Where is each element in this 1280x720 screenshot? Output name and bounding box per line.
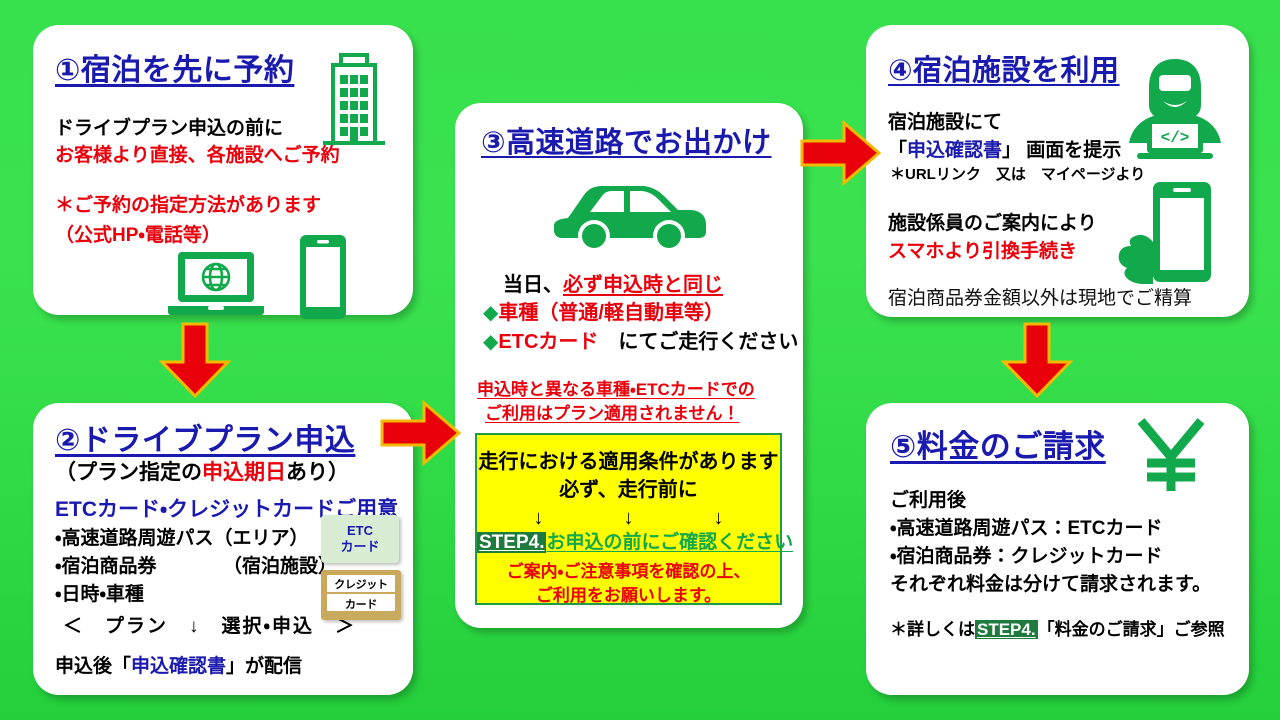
card2-bullet-3: ・日時・車種 — [55, 579, 144, 606]
smartphone-icon — [298, 233, 348, 321]
card4-title: ④宿泊施設を利用 — [888, 47, 1120, 89]
infographic-canvas: ①宿泊を先に予約 ドライブプラン申込の前に お客様より直接、各施設へご予約 ＊ご… — [0, 0, 1280, 720]
notice-line-2: 必ず、走行前に — [477, 473, 780, 502]
card2-subtitle-pre: （プラン指定の — [55, 461, 202, 484]
card-step-1: ①宿泊を先に予約 ドライブプラン申込の前に お客様より直接、各施設へご予約 ＊ご… — [33, 25, 413, 315]
hand-smartphone-icon — [1109, 180, 1229, 288]
diamond-marker-icon: ◆ — [483, 302, 498, 324]
card4-line2-highlight: 申込確認書 — [907, 140, 1002, 161]
card4-line-4: 施設係員のご案内により — [888, 208, 1097, 235]
etc-card-label-line2: カード — [340, 539, 379, 555]
card5-line-3: ・宿泊商品券：クレジットカード — [890, 541, 1162, 568]
card3-notice-box: 走行における適用条件があります 必ず、走行前に ↓ ↓ ↓ STEP4.お申込の… — [475, 433, 782, 605]
card2-footer: 申込後「申込確認書」が配信 — [55, 651, 302, 678]
notice-line-5: ご利用をお願いします。 — [477, 581, 780, 606]
card1-line-4: （公式HP・電話等） — [55, 220, 221, 247]
card4-line2-pre: 「 — [888, 140, 907, 161]
etc-card-graphic: ETC カード — [321, 515, 399, 563]
card2-footer-post: 」が配信 — [226, 656, 302, 677]
card-step-5: ⑤料金のご請求 ご利用後 ・高速道路周遊パス：ETCカード ・宿泊商品券：クレジ… — [866, 403, 1249, 695]
card5-line-4: それぞれ料金は分けて請求されます。 — [890, 569, 1211, 596]
card3-line1-pre: 当日、 — [503, 274, 563, 296]
card4-line-3: ＊URLリンク 又は マイページより — [890, 163, 1145, 184]
notice-line-1: 走行における適用条件があります — [477, 445, 780, 474]
credit-card-graphic: クレジット カード — [321, 570, 401, 620]
card2-title: ②ドライブプラン申込 — [55, 415, 355, 459]
card2-bullet-1: ・高速道路周遊パス（エリア） — [55, 523, 308, 550]
card-step-4: ④宿泊施設を利用 宿泊施設にて 「申込確認書」 画面を提示 ＊URLリンク 又は… — [866, 25, 1249, 317]
card5-line-1: ご利用後 — [890, 485, 966, 512]
card4-line-2: 「申込確認書」 画面を提示 — [888, 135, 1121, 162]
credit-card-label-line1: クレジット — [321, 576, 401, 592]
laptop-globe-icon — [168, 250, 264, 316]
card4-line-5: スマホより引換手続き — [888, 236, 1077, 263]
step4-badge[interactable]: STEP4. — [477, 532, 546, 553]
step4-badge-card5[interactable]: STEP4. — [975, 620, 1038, 639]
card5-reference-pre: ＊詳しくは — [890, 620, 975, 639]
card3-line3-black: にてご走行ください — [598, 331, 798, 353]
card5-reference: ＊詳しくはSTEP4.「料金のご請求」ご参照 — [890, 615, 1225, 640]
notice-down-arrows-icon: ↓ ↓ ↓ — [477, 501, 780, 530]
arrow-card2-to-card3 — [380, 400, 462, 466]
card3-warning-1: 申込時と異なる車種・ETCカードでの — [477, 375, 755, 400]
card5-title: ⑤料金のご請求 — [890, 421, 1106, 466]
card1-line-2: お客様より直接、各施設へご予約 — [55, 140, 340, 167]
card1-title: ①宿泊を先に予約 — [55, 45, 294, 89]
card2-footer-pre: 申込後「 — [55, 656, 131, 677]
etc-card-label-line1: ETC — [347, 523, 373, 539]
card4-line2-post: 」 画面を提示 — [1002, 140, 1121, 161]
yen-icon — [1133, 415, 1209, 495]
person-laptop-icon: </> — [1119, 57, 1231, 163]
card3-line-1: 当日、必ず申込時と同じ — [503, 268, 723, 297]
card2-footer-highlight: 申込確認書 — [131, 656, 226, 677]
diamond-marker-icon-2: ◆ — [483, 331, 498, 353]
card3-line2-text: 車種（普通/軽自動車等） — [498, 302, 724, 324]
card1-line-1: ドライブプラン申込の前に — [55, 113, 283, 140]
card4-line-1: 宿泊施設にて — [888, 107, 1002, 134]
card1-line-3: ＊ご予約の指定方法があります — [55, 190, 321, 217]
card-step-3: ③高速道路でお出かけ 当日、必ず申込時と同じ ◆車種（普通/軽自動車等） ◆ET… — [455, 103, 803, 628]
card3-line1-highlight: 必ず申込時と同じ — [563, 274, 723, 296]
card3-line-3: ◆ETCカード にてご走行ください — [483, 325, 798, 354]
step4-link-text[interactable]: お申込の前にご確認ください — [546, 532, 793, 553]
card2-plan-nav: ＜ プラン ↓ 選択・申込 ＞ — [63, 611, 356, 638]
car-icon — [550, 178, 710, 254]
card3-line3-red: ETCカード — [498, 331, 598, 353]
notice-step-link: STEP4.お申込の前にご確認ください — [477, 527, 780, 554]
card-step-2: ②ドライブプラン申込 （プラン指定の申込期日あり） ETCカード・クレジットカー… — [33, 403, 413, 695]
credit-card-label-line2: カード — [321, 596, 401, 612]
card2-subtitle: （プラン指定の申込期日あり） — [55, 456, 349, 486]
card3-title: ③高速道路でお出かけ — [481, 119, 772, 161]
card2-subtitle-highlight: 申込期日 — [202, 461, 286, 484]
card5-reference-post: 「料金のご請求」ご参照 — [1038, 620, 1225, 639]
card5-line-2: ・高速道路周遊パス：ETCカード — [890, 513, 1162, 540]
arrow-card1-to-card2 — [158, 322, 232, 400]
card2-bullet-2: ・宿泊商品券 （宿泊施設） — [55, 551, 337, 578]
card3-line-2: ◆車種（普通/軽自動車等） — [483, 296, 724, 325]
notice-line-4: ご案内・ご注意事項を確認の上、 — [477, 557, 780, 582]
arrow-card3-to-card4 — [800, 120, 882, 186]
arrow-card4-to-card5 — [1000, 322, 1074, 400]
card3-warning-2: ご利用はプラン適用されません！ — [485, 399, 740, 424]
card2-subtitle-post: あり） — [286, 461, 349, 484]
svg-text:</>: </> — [1161, 129, 1190, 147]
building-icon — [317, 51, 391, 147]
